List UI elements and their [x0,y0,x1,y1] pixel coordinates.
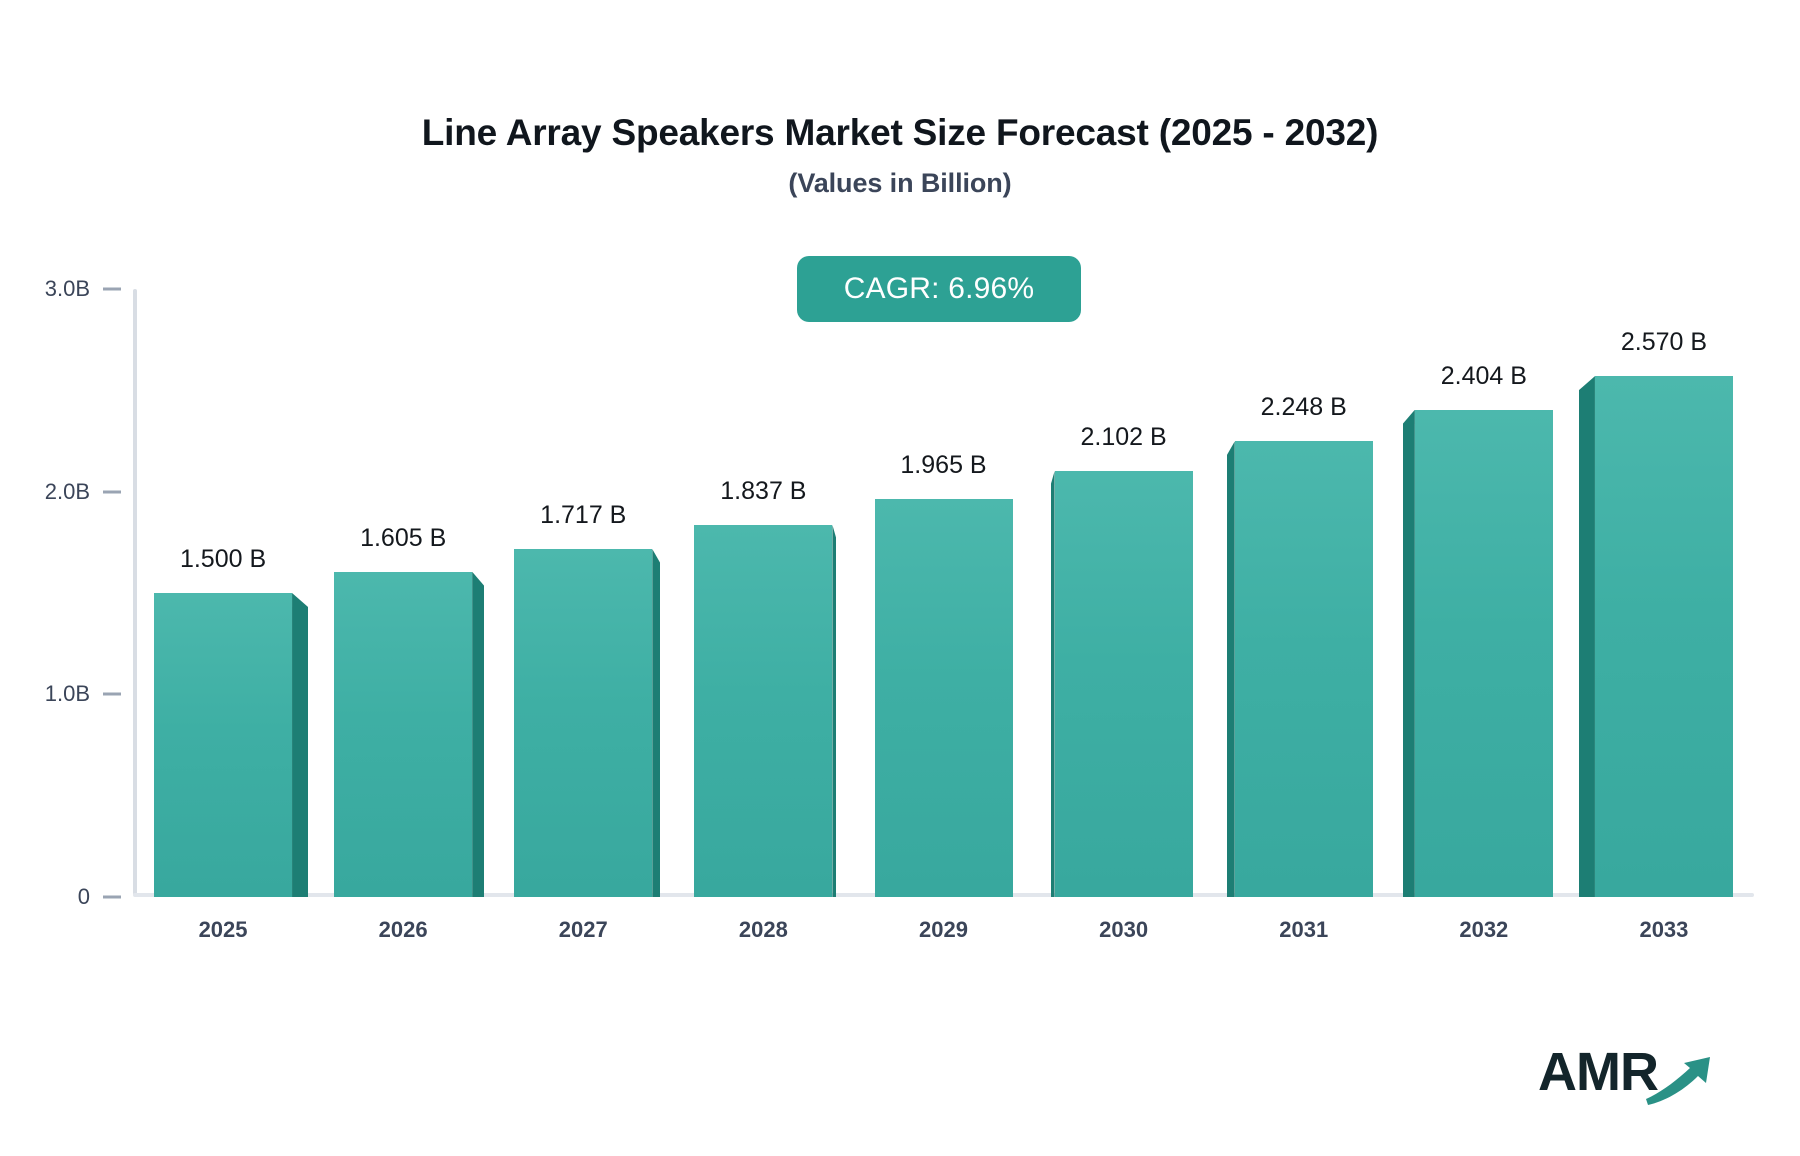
bar[interactable] [694,525,832,897]
x-tick-label: 2033 [1564,917,1764,943]
amr-logo: AMR [1538,1037,1728,1113]
x-tick-label: 2025 [123,917,323,943]
bar-front-face [694,525,832,897]
bar-side-face [1579,376,1595,897]
bar-side-face [1227,441,1235,897]
bar[interactable] [1055,471,1193,897]
y-tick-label: 3.0B [0,276,90,302]
y-tick-mark [103,288,121,291]
bar-side-face [652,549,660,897]
bar-front-face [334,572,472,897]
bar-value-label: 2.570 B [1534,328,1794,357]
x-tick-label: 2027 [483,917,683,943]
bar-chart-plot-area: 01.0B2.0B3.0B 1.500 B1.605 B1.717 B1.837… [0,0,1800,1156]
y-tick-label: 0 [0,884,90,910]
bar-value-label: 2.404 B [1354,362,1614,391]
x-tick-label: 2026 [303,917,503,943]
bar[interactable] [1235,441,1373,897]
bar[interactable] [1415,410,1553,897]
bar-value-label: 1.965 B [814,451,1074,480]
bar-front-face [1595,376,1733,897]
bar-front-face [875,499,1013,897]
bar[interactable] [154,593,292,897]
bar-value-label: 2.248 B [1174,393,1434,422]
bar-front-face [1235,441,1373,897]
y-tick-label: 2.0B [0,479,90,505]
x-tick-label: 2029 [844,917,1044,943]
y-tick-label: 1.0B [0,681,90,707]
bar-front-face [1055,471,1193,897]
bar-side-face [1403,410,1415,897]
y-tick-mark [103,490,121,493]
bar-side-face [1051,471,1055,897]
y-tick-mark [103,896,121,899]
bar-side-face [472,572,484,897]
bar[interactable] [334,572,472,897]
growth-arrow-icon [1538,1037,1728,1113]
y-axis-line [133,289,137,895]
bar[interactable] [514,549,652,897]
bar[interactable] [875,499,1013,897]
bar[interactable] [1595,376,1733,897]
x-tick-label: 2030 [1024,917,1224,943]
x-tick-label: 2032 [1384,917,1584,943]
y-tick-mark [103,693,121,696]
bar-value-label: 2.102 B [994,423,1254,452]
bar-front-face [154,593,292,897]
x-tick-label: 2031 [1204,917,1404,943]
bar-side-face [292,593,308,897]
bar-front-face [1415,410,1553,897]
bar-side-face [832,525,836,897]
bar-front-face [514,549,652,897]
bar-value-label: 1.837 B [633,477,893,506]
x-tick-label: 2028 [663,917,863,943]
